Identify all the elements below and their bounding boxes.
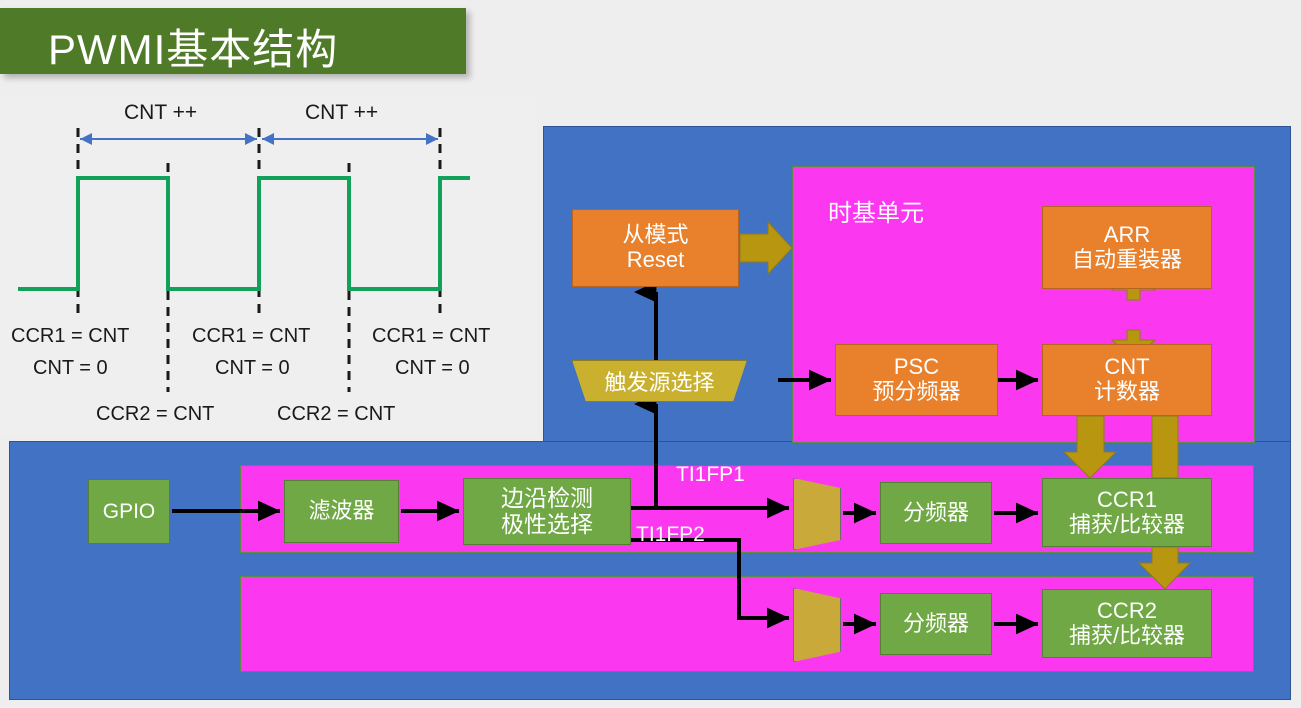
ti1fp1-label: TI1FP1	[676, 463, 745, 487]
arr-line1: ARR	[1104, 223, 1150, 248]
slave-mode-line2: Reset	[627, 248, 684, 273]
ccr2-label-2: CCR2 = CNT	[277, 403, 395, 426]
cnt-block[interactable]: CNT 计数器	[1042, 344, 1212, 416]
cnt-increment-label-1: CNT ++	[124, 101, 197, 125]
filter-label: 滤波器	[308, 499, 374, 524]
waveform-panel: CNT ++ CNT ++ CCR1 = CNT CCR1 = CNT CCR1…	[0, 97, 537, 435]
pwm-waveform-trace	[18, 178, 470, 289]
ccr1-label-1: CCR1 = CNT	[11, 325, 129, 348]
page-title: PWMI基本结构	[48, 16, 338, 77]
psc-line1: PSC	[894, 355, 939, 380]
ccr1-label-2: CCR1 = CNT	[192, 325, 310, 348]
slave-mode-block[interactable]: 从模式 Reset	[572, 209, 739, 287]
cnt-reset-label-3: CNT = 0	[395, 357, 470, 380]
divider2-block[interactable]: 分频器	[880, 593, 992, 655]
trigger-source-label: 触发源选择	[604, 365, 714, 397]
psc-line2: 预分频器	[872, 380, 960, 405]
arr-line2: 自动重装器	[1072, 248, 1182, 273]
ccr1-block[interactable]: CCR1 捕获/比较器	[1042, 478, 1212, 547]
divider2-label: 分频器	[903, 612, 969, 637]
cnt-line1: CNT	[1104, 355, 1149, 380]
gpio-block[interactable]: GPIO	[88, 479, 170, 544]
waveform-graphic	[0, 97, 537, 435]
divider1-label: 分频器	[903, 501, 969, 526]
cnt-reset-label-1: CNT = 0	[33, 357, 108, 380]
edge-detect-block[interactable]: 边沿检测 极性选择	[463, 478, 631, 545]
slide-canvas: PWMI基本结构	[0, 0, 1301, 708]
ti1fp2-label: TI1FP2	[636, 523, 705, 547]
cnt-reset-label-2: CNT = 0	[215, 357, 290, 380]
filter-block[interactable]: 滤波器	[284, 480, 399, 543]
channel2-mux[interactable]	[793, 588, 841, 662]
edge-detect-line1: 边沿检测	[501, 486, 593, 512]
ccr2-label-1: CCR2 = CNT	[96, 403, 214, 426]
cnt-line2: 计数器	[1094, 380, 1160, 405]
trigger-source-selector[interactable]: 触发源选择	[572, 360, 747, 402]
psc-block[interactable]: PSC 预分频器	[835, 344, 998, 416]
ccr1-line1: CCR1	[1097, 488, 1157, 513]
divider1-block[interactable]: 分频器	[880, 482, 992, 544]
ccr2-block[interactable]: CCR2 捕获/比较器	[1042, 589, 1212, 658]
ccr2-line2: 捕获/比较器	[1069, 624, 1185, 649]
title-banner: PWMI基本结构	[0, 8, 466, 74]
timebase-unit-title: 时基单元	[828, 193, 924, 228]
channel1-mux[interactable]	[793, 478, 841, 550]
ccr2-line1: CCR2	[1097, 599, 1157, 624]
gpio-label: GPIO	[103, 500, 156, 524]
slave-mode-line1: 从模式	[622, 223, 688, 248]
ccr1-line2: 捕获/比较器	[1069, 513, 1185, 538]
arr-block[interactable]: ARR 自动重装器	[1042, 206, 1212, 289]
edge-detect-line2: 极性选择	[501, 512, 593, 538]
cnt-increment-label-2: CNT ++	[305, 101, 378, 125]
ccr1-label-3: CCR1 = CNT	[372, 325, 490, 348]
